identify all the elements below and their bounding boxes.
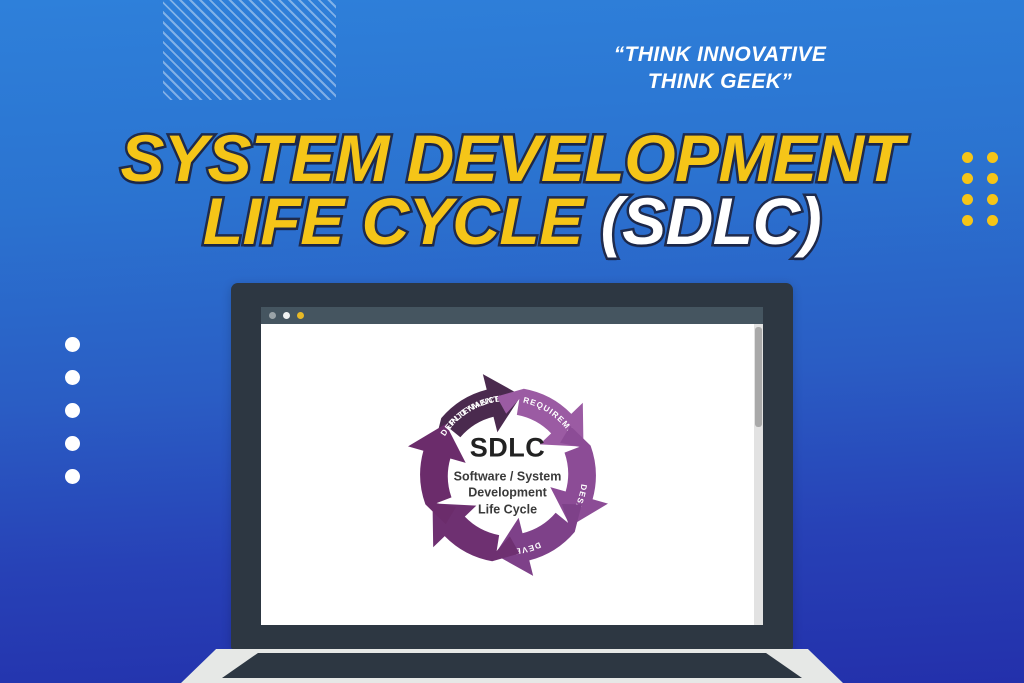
title-line-2-main: LIFE CYCLE <box>203 184 601 258</box>
browser-viewport: MAINTENANCE REQUIREMENT DESIGN <box>261 324 763 625</box>
laptop-base-inner <box>222 653 802 678</box>
development-arrow <box>486 499 595 583</box>
scrollbar-thumb[interactable] <box>755 327 762 427</box>
window-dot-white-icon[interactable] <box>283 312 290 319</box>
tagline: “THINK INNOVATIVE THINK GEEK” <box>520 42 920 96</box>
tagline-line-2: THINK GEEK” <box>520 69 920 96</box>
window-dot-yellow-icon[interactable] <box>297 312 304 319</box>
laptop-lid: MAINTENANCE REQUIREMENT DESIGN <box>231 283 793 649</box>
white-dot <box>65 337 80 352</box>
diagram-canvas: MAINTENANCE REQUIREMENT DESIGN <box>261 324 754 625</box>
browser-titlebar <box>261 307 763 324</box>
vertical-scrollbar[interactable] <box>754 324 763 625</box>
white-dot <box>65 469 80 484</box>
sdlc-cycle-svg: MAINTENANCE REQUIREMENT DESIGN <box>382 349 634 601</box>
poster-canvas: “THINK INNOVATIVE THINK GEEK” SYSTEM DEV… <box>0 0 1024 683</box>
title-line-1: SYSTEM DEVELOPMENT <box>0 127 1024 190</box>
page-title: SYSTEM DEVELOPMENT LIFE CYCLE (SDLC) <box>0 127 1024 252</box>
sdlc-cycle-diagram: MAINTENANCE REQUIREMENT DESIGN <box>382 349 634 601</box>
white-dot-column-decoration <box>65 337 80 484</box>
white-dot <box>65 436 80 451</box>
window-dot-gray-icon[interactable] <box>269 312 276 319</box>
title-line-2: LIFE CYCLE (SDLC) <box>0 190 1024 253</box>
white-dot <box>65 370 80 385</box>
diagonal-stripes-pattern <box>163 0 336 100</box>
tagline-line-1: “THINK INNOVATIVE <box>520 42 920 69</box>
title-line-2-acronym: (SDLC) <box>601 184 822 258</box>
white-dot <box>65 403 80 418</box>
laptop-screen: MAINTENANCE REQUIREMENT DESIGN <box>261 307 763 625</box>
